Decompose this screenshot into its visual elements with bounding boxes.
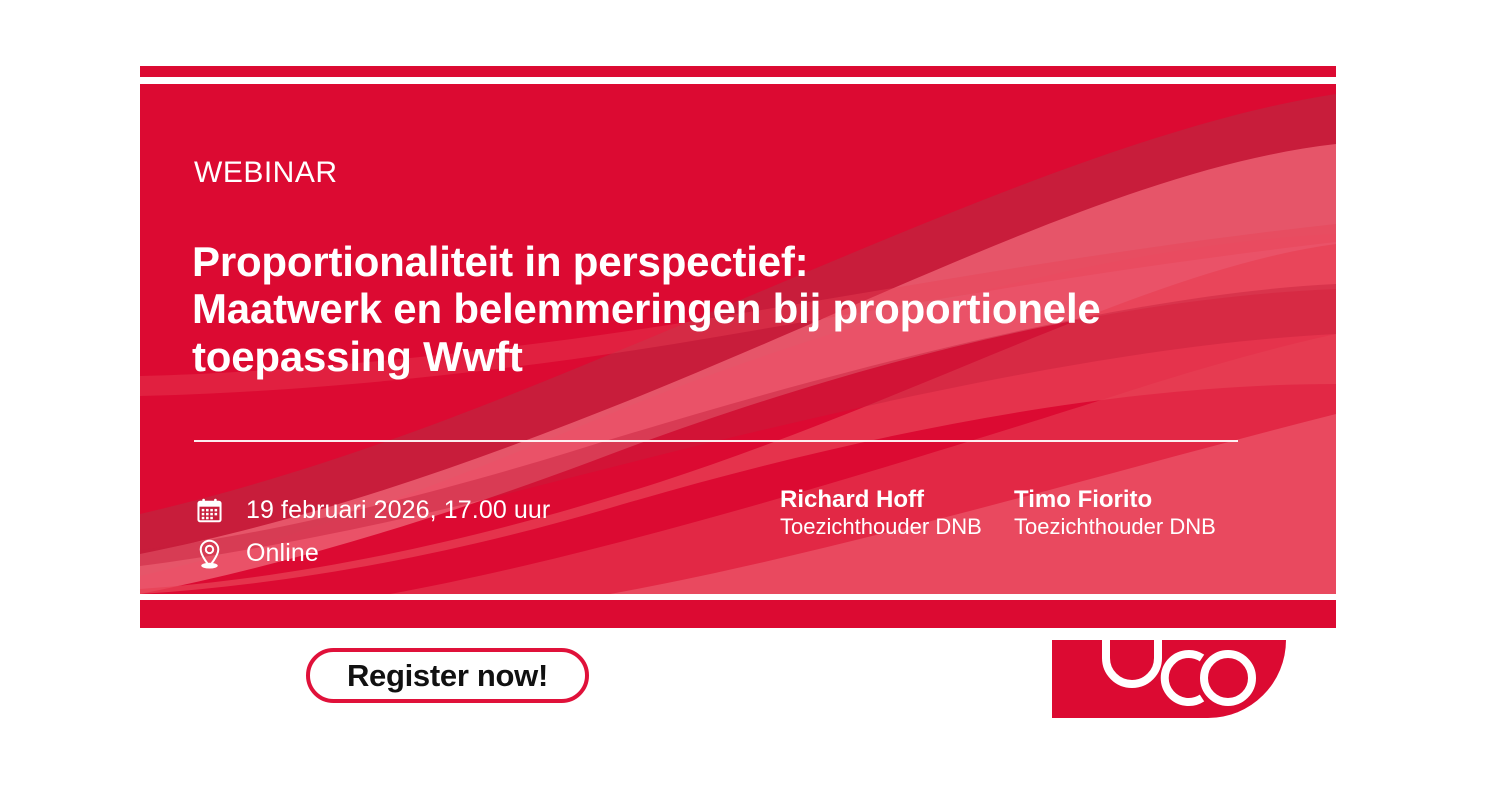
banner-page: WEBINAR Proportionaliteit in perspectief…	[0, 0, 1497, 805]
event-meta: 19 februari 2026, 17.00 uur Online	[194, 489, 550, 575]
yco-logo[interactable]	[1052, 640, 1286, 718]
headline-line-1: Proportionaliteit in perspectief:	[192, 238, 1282, 285]
speaker-role: Toezichthouder DNB	[1014, 514, 1222, 540]
speaker-item: Timo Fiorito Toezichthouder DNB	[1014, 486, 1222, 541]
event-date-row: 19 februari 2026, 17.00 uur	[194, 489, 550, 532]
eyebrow-label: WEBINAR	[194, 158, 338, 188]
banner-bottom-accent-strip	[140, 600, 1336, 628]
speaker-name: Richard Hoff	[780, 486, 988, 514]
event-location-row: Online	[194, 532, 550, 575]
speaker-name: Timo Fiorito	[1014, 486, 1222, 514]
speaker-item: Richard Hoff Toezichthouder DNB	[780, 486, 988, 541]
location-pin-icon	[194, 539, 224, 569]
yco-logo-mark	[1094, 640, 1264, 718]
page-title: Proportionaliteit in perspectief: Maatwe…	[192, 238, 1282, 380]
headline-line-3: toepassing Wwft	[192, 333, 1282, 380]
calendar-icon	[194, 496, 224, 526]
speaker-role: Toezichthouder DNB	[780, 514, 988, 540]
webinar-banner: WEBINAR Proportionaliteit in perspectief…	[140, 66, 1336, 628]
register-now-button[interactable]: Register now!	[306, 648, 589, 703]
banner-top-accent-strip	[140, 66, 1336, 77]
event-date-text: 19 februari 2026, 17.00 uur	[246, 496, 550, 525]
register-now-label: Register now!	[347, 658, 548, 694]
banner-body: WEBINAR Proportionaliteit in perspectief…	[140, 84, 1336, 594]
headline-line-2: Maatwerk en belemmeringen bij proportion…	[192, 285, 1282, 332]
horizontal-divider	[194, 440, 1238, 442]
speaker-list: Richard Hoff Toezichthouder DNB Timo Fio…	[780, 486, 1222, 541]
event-location-text: Online	[246, 539, 319, 568]
